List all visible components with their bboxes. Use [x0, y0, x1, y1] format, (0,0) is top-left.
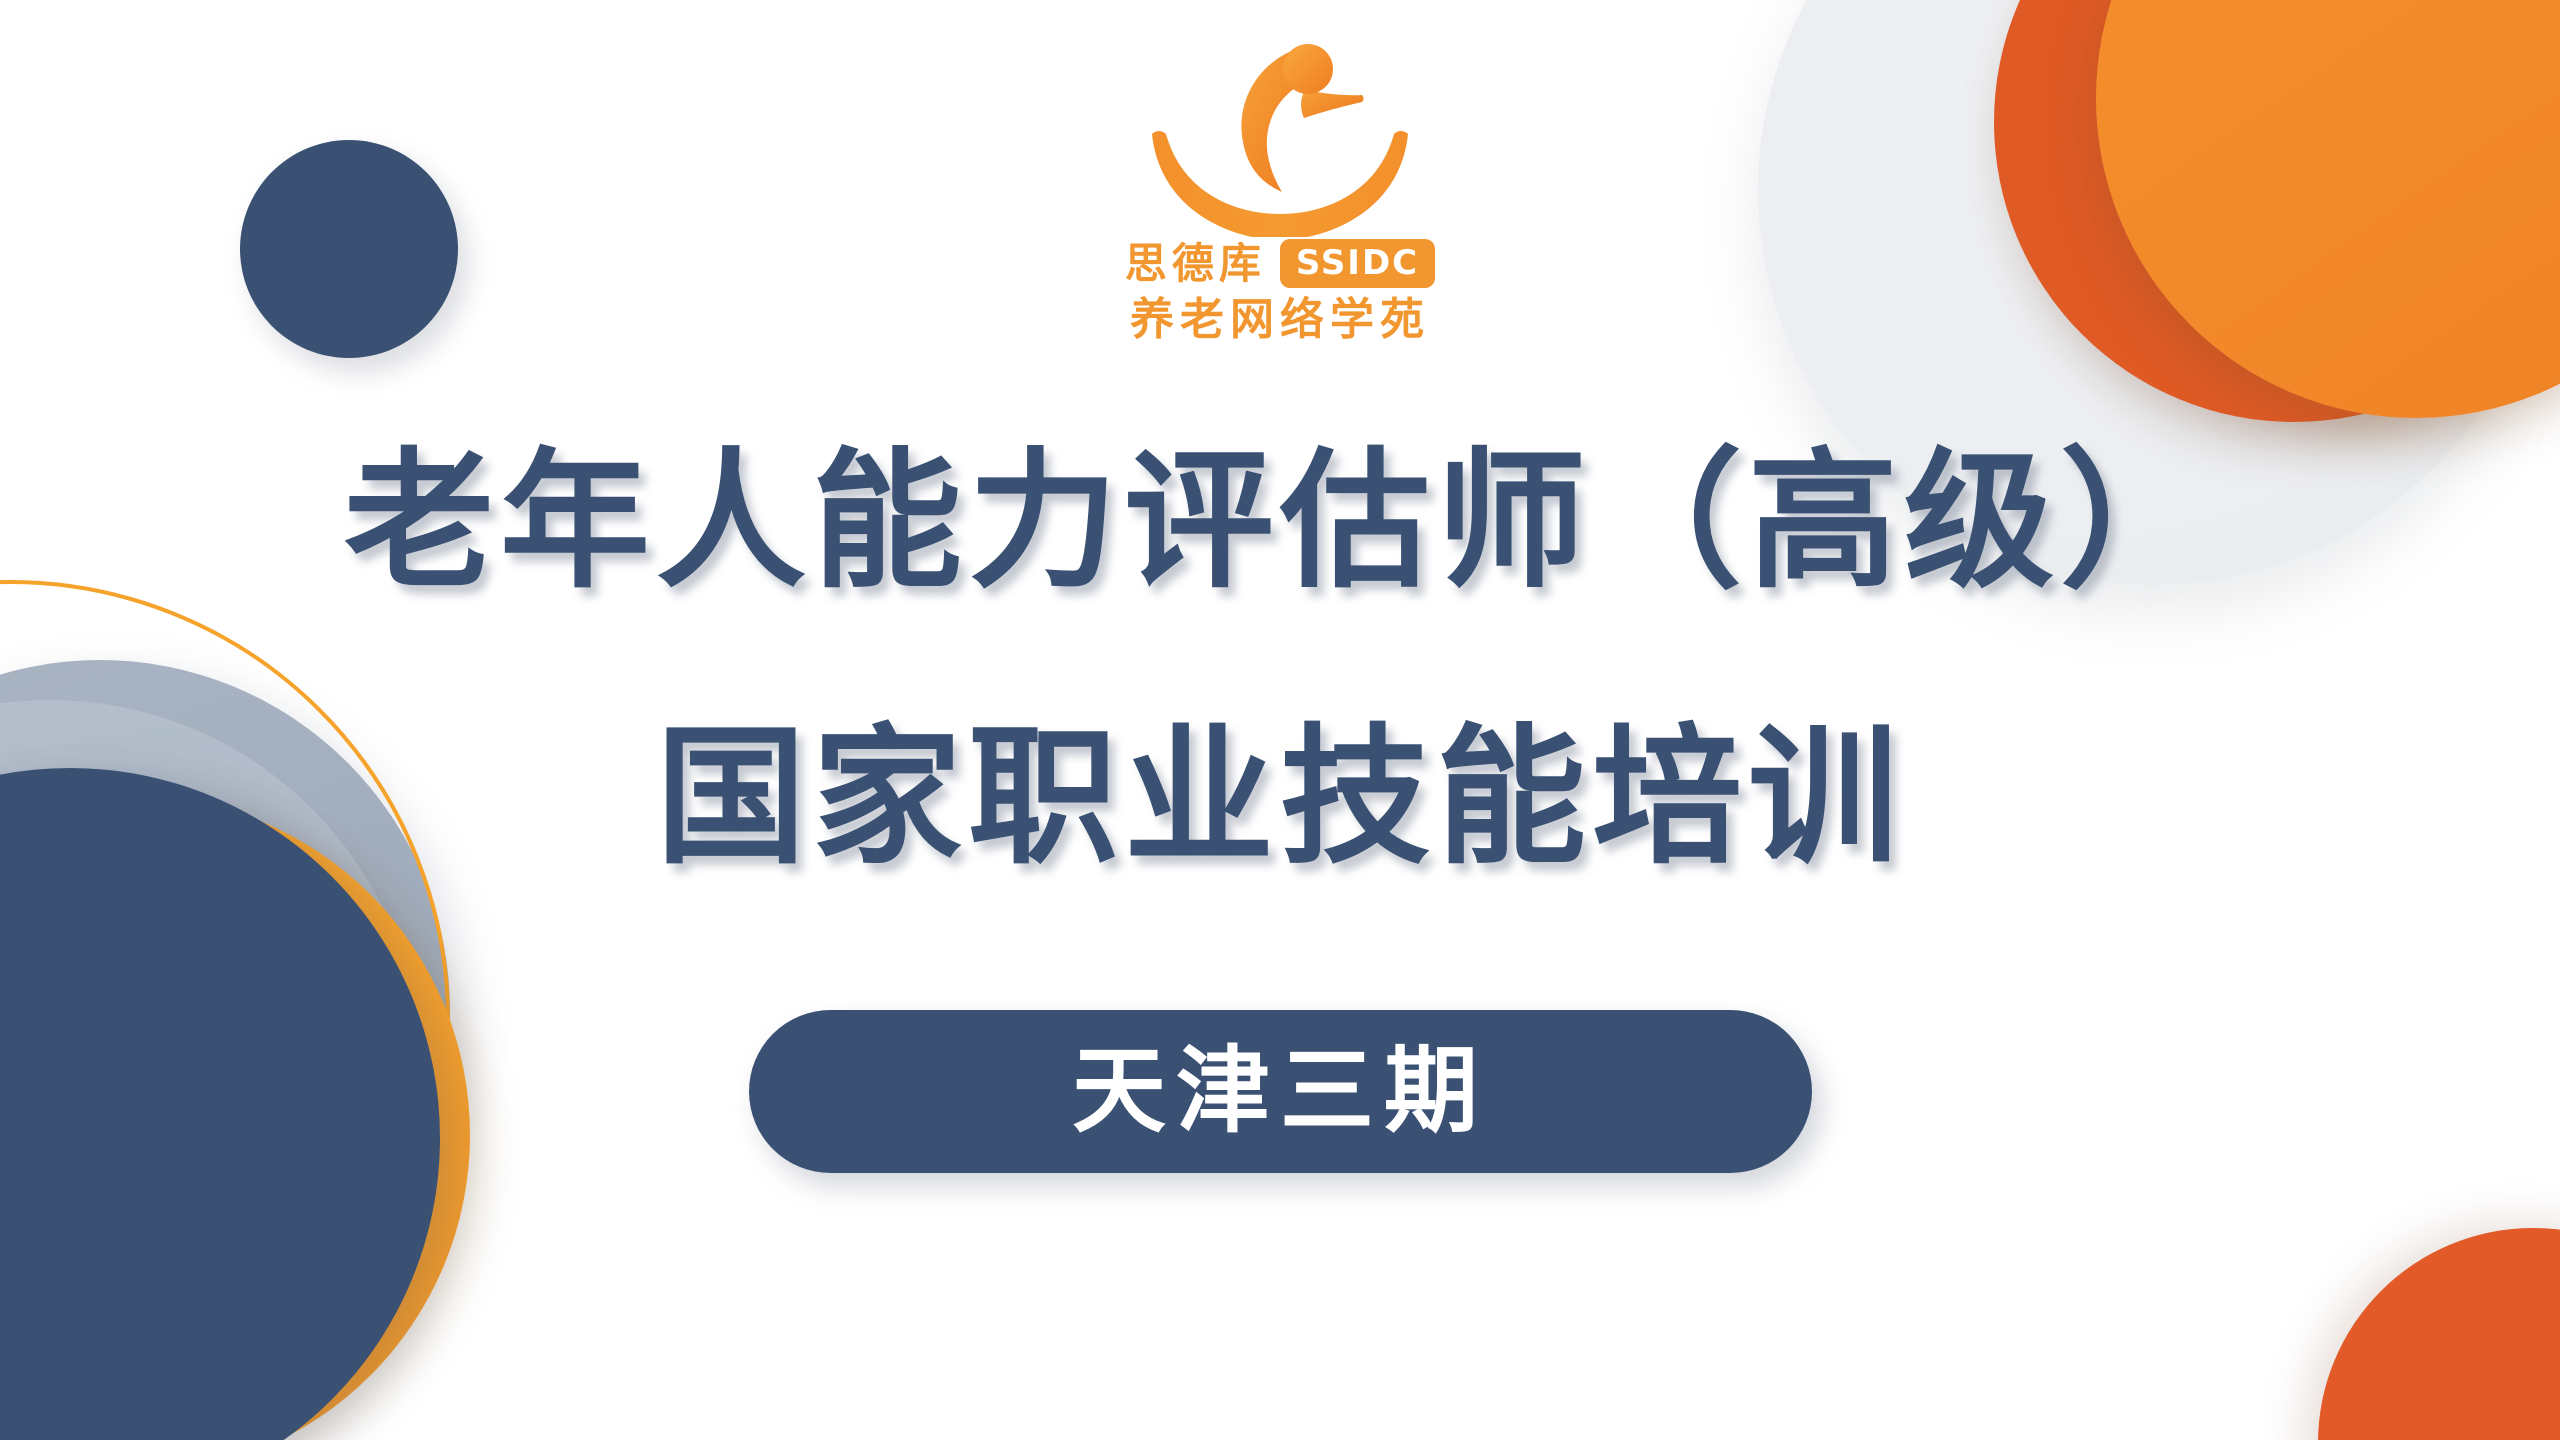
logo-wordmark-cn-line2: 养老网络学苑: [1130, 298, 1430, 342]
logo-wordmark-row: 思德库 SSIDC: [1125, 239, 1435, 288]
brand-logo: 思德库 SSIDC 养老网络学苑: [0, 22, 2560, 342]
poster-canvas: 思德库 SSIDC 养老网络学苑 老年人能力评估师（高级） 国家职业技能培训 天…: [0, 0, 2560, 1440]
logo-wordmark-cn-line1: 思德库: [1125, 243, 1266, 285]
logo-ssidc-chip: SSIDC: [1280, 239, 1435, 288]
headline-line-1: 老年人能力评估师（高级）: [0, 448, 2560, 598]
session-badge-label: 天津三期: [1072, 1045, 1488, 1139]
poster-content: 思德库 SSIDC 养老网络学苑 老年人能力评估师（高级） 国家职业技能培训 天…: [0, 0, 2560, 1440]
session-badge-container: 天津三期: [0, 1010, 2560, 1173]
session-badge: 天津三期: [749, 1010, 1812, 1173]
headline-line-2: 国家职业技能培训: [0, 724, 2560, 874]
ssidc-figure-arc-logo-icon: [1130, 22, 1430, 237]
